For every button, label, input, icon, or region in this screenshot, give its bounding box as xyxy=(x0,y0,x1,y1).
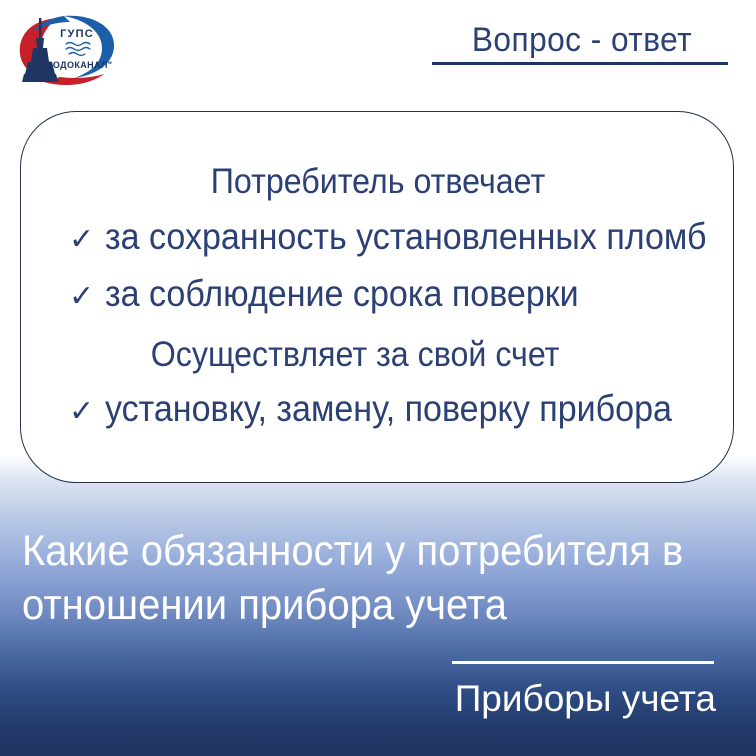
question-line-1: Какие обязанности у потребителя в xyxy=(22,524,686,578)
slide-canvas: ГУПС "ВОДОКАНАЛ" Вопрос - ответ Потребит… xyxy=(0,0,756,756)
svg-text:"ВОДОКАНАЛ": "ВОДОКАНАЛ" xyxy=(42,60,113,70)
list-item-label: за сохранность установленных пломб xyxy=(105,216,706,258)
header: ГУПС "ВОДОКАНАЛ" Вопрос - ответ xyxy=(0,0,756,112)
answer-card: Потребитель отвечает ✓ за сохранность ус… xyxy=(20,111,734,483)
page-title: Вопрос - ответ xyxy=(443,20,722,60)
list-item: ✓ за сохранность установленных пломб xyxy=(21,216,735,258)
gups-vodokanal-logo: ГУПС "ВОДОКАНАЛ" xyxy=(14,12,118,88)
footer-divider xyxy=(452,661,714,664)
answer-card-content: Потребитель отвечает ✓ за сохранность ус… xyxy=(21,164,735,445)
list-item: ✓ установку, замену, поверку прибора xyxy=(21,388,735,430)
answer-heading-1: Потребитель отвечает xyxy=(50,164,707,199)
check-icon: ✓ xyxy=(69,225,105,255)
footer-category-label: Приборы учета xyxy=(434,676,716,722)
header-underline-rule xyxy=(432,62,728,65)
check-icon: ✓ xyxy=(69,282,105,312)
header-title-block: Вопрос - ответ xyxy=(432,20,732,65)
question-line-2: отношении прибора учета xyxy=(22,578,686,632)
question-block: Какие обязанности у потребителя в отноше… xyxy=(22,524,736,632)
check-icon: ✓ xyxy=(69,397,105,427)
svg-text:ГУПС: ГУПС xyxy=(60,28,94,40)
answer-heading-2: Осуществляет за свой счет xyxy=(50,337,707,372)
list-item: ✓ за соблюдение срока поверки xyxy=(21,273,735,315)
list-item-label: установку, замену, поверку прибора xyxy=(105,388,672,430)
list-item-label: за соблюдение срока поверки xyxy=(105,273,579,315)
